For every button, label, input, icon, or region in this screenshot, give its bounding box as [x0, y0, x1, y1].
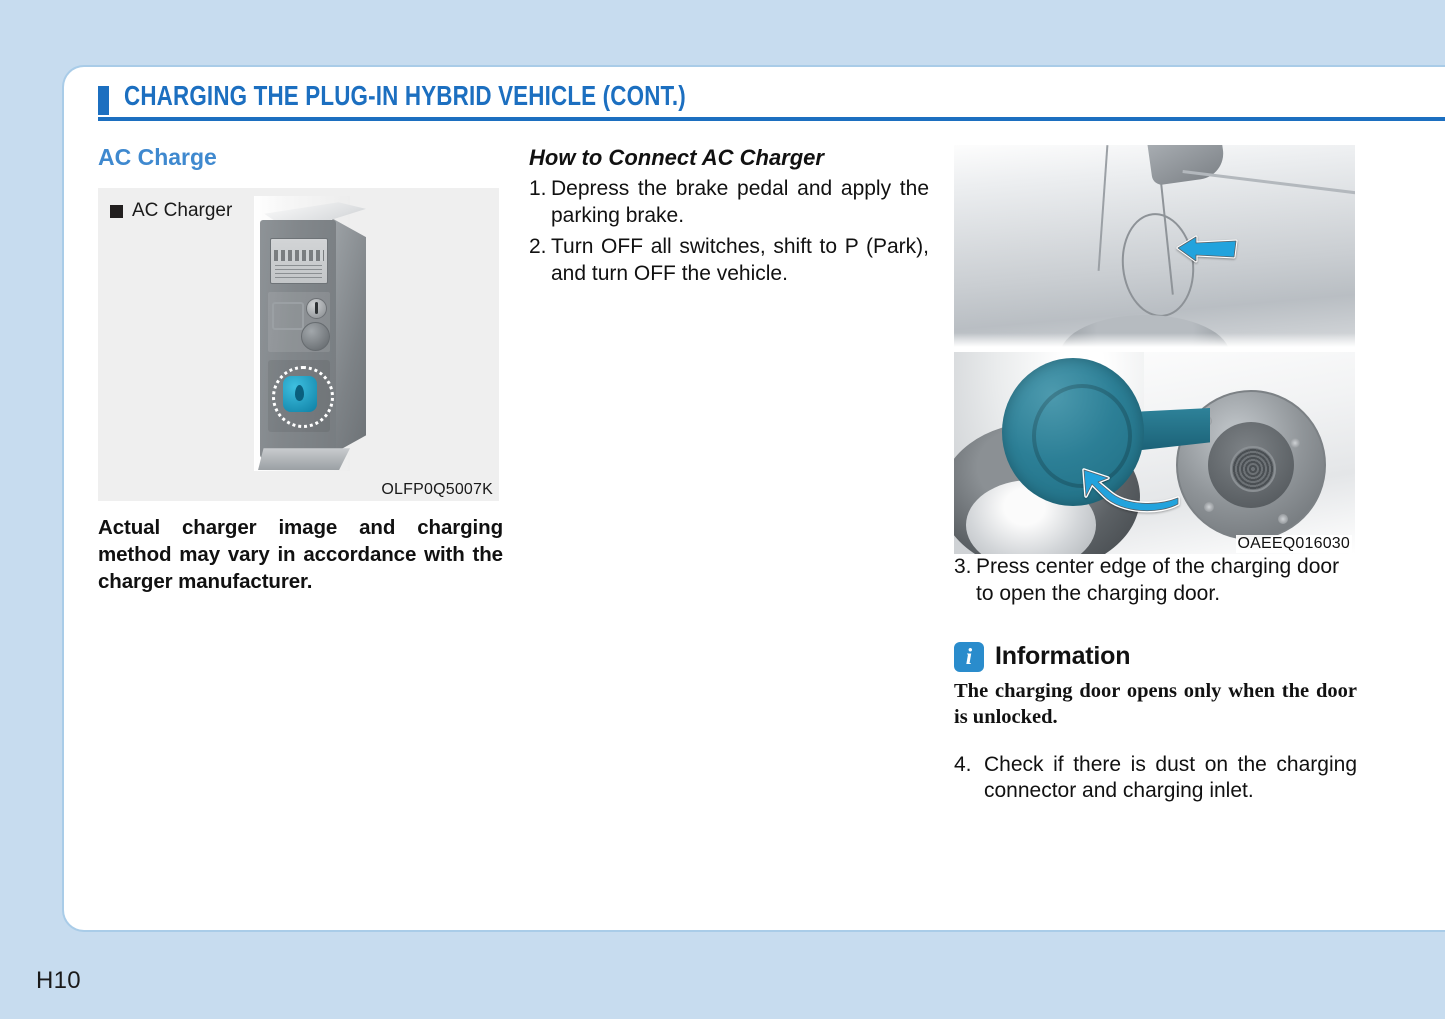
- step-text: Depress the brake pedal and apply the pa…: [551, 176, 929, 230]
- step-number: 2.: [529, 234, 551, 288]
- inlet-screw: [1278, 514, 1288, 524]
- step-number: 1.: [529, 176, 551, 230]
- station-display-textlines: [275, 265, 322, 279]
- station-control-panel: [268, 292, 330, 352]
- photo-bottom-fade: [954, 333, 1355, 347]
- information-header: i Information: [954, 642, 1357, 672]
- station-card-reader-icon: [272, 302, 304, 330]
- list-item: 3. Press center edge of the charging doo…: [954, 554, 1357, 608]
- information-icon: i: [954, 642, 984, 672]
- step-number: 4.: [954, 752, 984, 806]
- station-display-screen: [270, 238, 328, 284]
- section-title-ac-charge: AC Charge: [98, 145, 503, 170]
- step-text: Check if there is dust on the charging c…: [984, 752, 1357, 806]
- square-bullet-icon: [110, 205, 123, 218]
- ac-charger-figure-label: AC Charger: [110, 200, 232, 222]
- charging-inlet-recess: [1208, 422, 1294, 508]
- right-column: OAEEQ016030 3. Press center edge of the …: [954, 145, 1357, 809]
- information-body: The charging door opens only when the do…: [954, 678, 1357, 731]
- blue-arrow-left-icon: [1176, 233, 1238, 263]
- left-column: AC Charge AC Charger: [98, 145, 503, 616]
- photo-car-charging-door-closed: [954, 145, 1355, 347]
- step-number: 3.: [954, 554, 976, 608]
- page-number: H10: [36, 967, 81, 995]
- step-text: Turn OFF all switches, shift to P (Park)…: [551, 234, 929, 288]
- step-text: Press center edge of the charging door t…: [976, 554, 1357, 608]
- list-item: 1. Depress the brake pedal and apply the…: [529, 176, 929, 230]
- dust-check-steps-list: 4. Check if there is dust on the chargin…: [954, 752, 1357, 806]
- ac-charger-figure: AC Charger: [98, 188, 499, 501]
- station-side-panel: [332, 218, 366, 454]
- ac-charger-label-text: AC Charger: [132, 200, 232, 222]
- ac-charger-figure-caption: OLFP0Q5007K: [381, 481, 493, 499]
- station-base: [258, 448, 350, 470]
- list-item: 2. Turn OFF all switches, shift to P (Pa…: [529, 234, 929, 288]
- station-display-digits: [274, 250, 324, 261]
- station-keyhole-icon: [306, 298, 327, 319]
- charger-variance-note: Actual charger image and charging method…: [98, 515, 503, 595]
- middle-column: How to Connect AC Charger 1. Depress the…: [529, 145, 929, 292]
- inlet-screw: [1290, 438, 1300, 448]
- open-door-steps-list: 3. Press center edge of the charging doo…: [954, 554, 1357, 608]
- photo-charging-door-open: OAEEQ016030: [954, 352, 1355, 554]
- station-connector-area: [268, 360, 330, 432]
- subsection-title-how-to-connect: How to Connect AC Charger: [529, 145, 929, 170]
- charging-connector-icon: [283, 376, 317, 412]
- page-title: CHARGING THE PLUG-IN HYBRID VEHICLE (CON…: [124, 80, 686, 112]
- photo-caption: OAEEQ016030: [1236, 535, 1353, 553]
- page-header: CHARGING THE PLUG-IN HYBRID VEHICLE (CON…: [98, 84, 1445, 128]
- connect-steps-list: 1. Depress the brake pedal and apply the…: [529, 176, 929, 288]
- station-knob: [301, 322, 330, 351]
- header-rule: [98, 117, 1445, 121]
- charging-inlet-pins: [1230, 446, 1276, 492]
- header-accent-bar: [98, 86, 109, 115]
- ac-charging-station-illustration: [240, 196, 368, 471]
- inlet-screw: [1204, 502, 1214, 512]
- information-title: Information: [995, 642, 1130, 671]
- list-item: 4. Check if there is dust on the chargin…: [954, 752, 1357, 806]
- station-front-panel: [260, 220, 336, 458]
- page-panel: CHARGING THE PLUG-IN HYBRID VEHICLE (CON…: [62, 65, 1445, 932]
- blue-curved-arrow-icon: [1082, 456, 1182, 514]
